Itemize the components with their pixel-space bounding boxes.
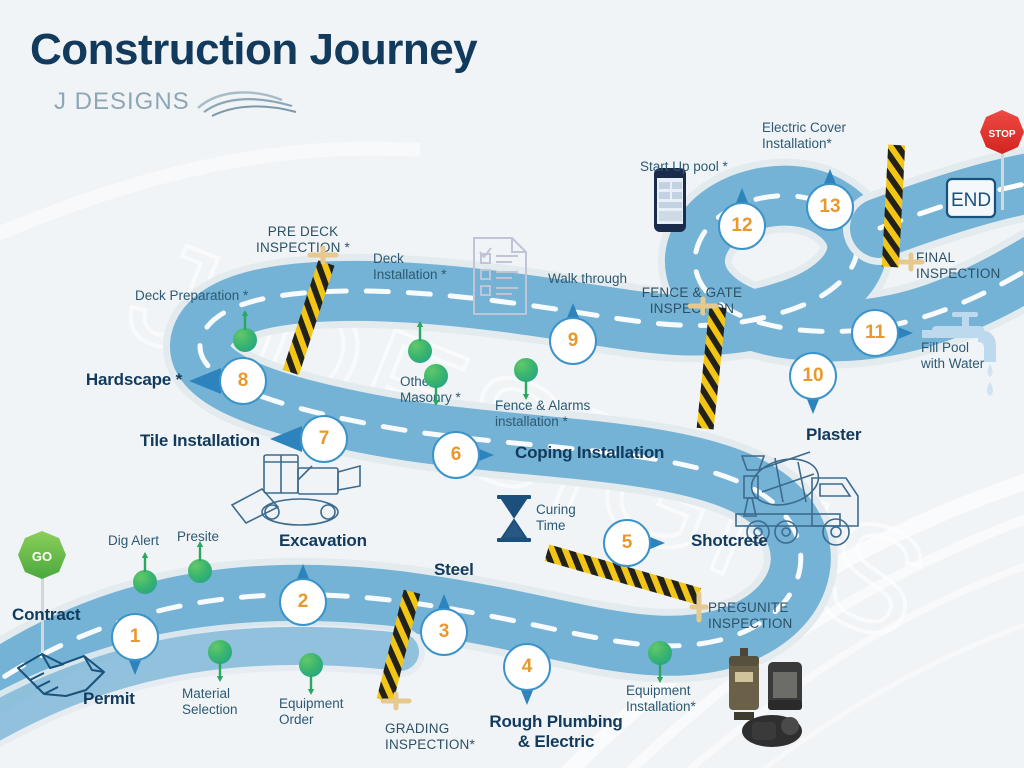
- pin-number: 12: [718, 202, 766, 250]
- pin-number: 11: [851, 309, 899, 357]
- pin-number: 6: [432, 431, 480, 479]
- milestone-pin-8[interactable]: 8: [219, 357, 267, 405]
- page-title: Construction Journey: [30, 28, 477, 72]
- milestone-pin-2[interactable]: 2: [279, 578, 327, 626]
- pin-number: 4: [503, 643, 551, 691]
- brand-logo: J DESIGNS: [54, 86, 477, 118]
- milestone-pin-11[interactable]: 11: [851, 309, 899, 357]
- barrier-grading: [377, 590, 421, 708]
- infographic-canvas: J DESIGNS GO STOP: [0, 0, 1024, 768]
- pin-number: 13: [806, 183, 854, 231]
- logo-text: J DESIGNS: [54, 88, 190, 116]
- pin-number: 1: [111, 613, 159, 661]
- barrier-pre-deck: [283, 248, 336, 375]
- milestone-pin-9[interactable]: 9: [549, 317, 597, 365]
- pin-number: 7: [300, 415, 348, 463]
- milestone-pin-10[interactable]: 10: [789, 352, 837, 400]
- pin-number: 8: [219, 357, 267, 405]
- milestone-pin-7[interactable]: 7: [300, 415, 348, 463]
- milestone-pin-1[interactable]: 1: [111, 613, 159, 661]
- wave-lines-icon: [196, 86, 306, 118]
- pin-number: 9: [549, 317, 597, 365]
- pin-tail: [189, 368, 221, 394]
- milestone-pin-12[interactable]: 12: [718, 202, 766, 250]
- milestone-pin-4[interactable]: 4: [503, 643, 551, 691]
- pin-number: 5: [603, 519, 651, 567]
- milestone-pin-5[interactable]: 5: [603, 519, 651, 567]
- milestone-pin-3[interactable]: 3: [420, 608, 468, 656]
- barrier-final: [882, 145, 922, 269]
- pin-number: 3: [420, 608, 468, 656]
- milestone-pin-6[interactable]: 6: [432, 431, 480, 479]
- milestone-pin-13[interactable]: 13: [806, 183, 854, 231]
- barrier-fence-gate: [690, 299, 726, 430]
- pin-number: 10: [789, 352, 837, 400]
- pin-tail: [270, 426, 302, 452]
- pin-number: 2: [279, 578, 327, 626]
- header: Construction Journey J DESIGNS: [30, 28, 477, 118]
